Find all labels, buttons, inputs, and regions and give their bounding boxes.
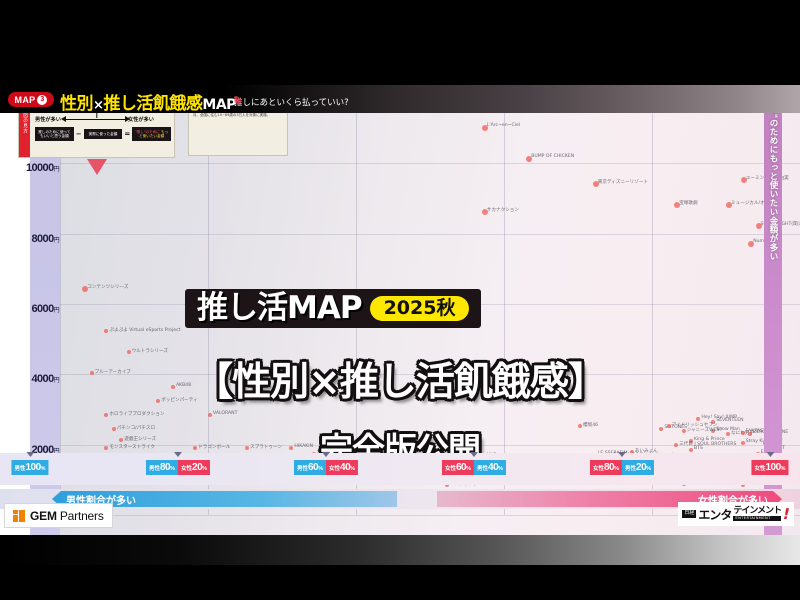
tick-pills: 女性60%男性40% <box>442 460 506 475</box>
pill-gender-label: 男性 <box>477 466 488 472</box>
header-title-a: 性別 <box>60 94 93 114</box>
tick-pills: 男性60%女性40% <box>294 460 358 475</box>
map-badge-number: 3 <box>37 95 47 105</box>
pill-female: 女性80% <box>590 460 622 475</box>
data-point[interactable] <box>667 424 671 428</box>
y-tick-value: 10000円 <box>26 162 59 174</box>
x-axis-tick: 男性80%女性20% <box>146 453 210 475</box>
pill-percent-sign: % <box>170 466 175 472</box>
data-point-label: Hey! Say! JUMP <box>701 415 737 420</box>
pill-percent: 60 <box>456 462 466 473</box>
pill-gender-label: 女性 <box>593 466 604 472</box>
data-point-label: ウルトラシリーズ <box>132 348 168 354</box>
infographic-content: 金額 12000円10000円8000円6000円4000円2000円0円 L'… <box>0 85 800 535</box>
legend-horizontal-line <box>65 119 127 120</box>
pill-male: 男性80% <box>146 460 178 475</box>
title-season-pill: 2025秋 <box>370 296 470 321</box>
pill-gender-label: 男性 <box>14 466 25 472</box>
nikkei-mark: 日経 <box>682 510 696 517</box>
grid-line-horizontal <box>60 163 800 164</box>
data-point-label: ジャニーズWEST <box>687 427 723 433</box>
data-point-label: HIKAKIN <box>294 444 313 449</box>
pill-percent-sign: % <box>350 466 355 472</box>
header-title-map: MAP <box>202 97 236 113</box>
data-point[interactable] <box>208 413 212 417</box>
data-point-label: ぷよぷよ Virtual eSports Project <box>109 327 180 333</box>
data-point-label: 三代目 J SOUL BROTHERS <box>679 441 736 447</box>
data-point-label: 東京ディズニーリゾート <box>598 179 648 185</box>
nikkei-teinment: テインメント <box>733 507 781 516</box>
data-point[interactable] <box>156 399 160 403</box>
formula-operator-equals: = <box>124 130 130 138</box>
title-overlay-row1: 推し活MAP 2025秋 <box>185 289 481 328</box>
pill-percent: 20 <box>636 462 646 473</box>
pill-gender-label: 女性 <box>181 466 192 472</box>
data-point-label: モンスターストライク <box>109 444 155 450</box>
pill-percent: 80 <box>160 462 170 473</box>
tick-pills: 男性80%女性20% <box>146 460 210 475</box>
pill-percent-sign: % <box>614 466 619 472</box>
pill-female: 女性100% <box>751 460 788 475</box>
y-tick-value: 8000円 <box>32 233 59 245</box>
title-main: 推し活MAP <box>197 293 362 324</box>
data-point[interactable] <box>104 329 108 333</box>
header-subtitle-text: 推しにあといくら払っていい? <box>234 98 349 108</box>
y-axis-tick: 10000円 <box>26 156 59 175</box>
data-point[interactable] <box>245 446 249 450</box>
tick-caret-icon <box>174 452 182 457</box>
footer-band <box>0 535 800 565</box>
x-axis-tick: 男性100% <box>11 453 48 475</box>
header-title-b: 推し活飢餓感 <box>103 94 202 114</box>
y-axis-tick: 6000円 <box>32 297 59 316</box>
data-point[interactable] <box>578 424 582 428</box>
data-point[interactable] <box>696 417 700 421</box>
legend-right-arrow-icon <box>125 116 130 122</box>
nikkei-slash: ! <box>781 505 792 523</box>
data-point-label: コンテンツシリーズ <box>87 284 128 290</box>
y-tick-unit: 円 <box>54 167 59 173</box>
data-point-label: VALORANT <box>213 411 237 416</box>
legend-pointer-icon <box>87 159 107 175</box>
data-point-label: パチンコ/パチスロ <box>117 425 155 431</box>
pill-male: 男性40% <box>474 460 506 475</box>
pill-percent: 40 <box>340 462 350 473</box>
tick-caret-icon <box>322 452 330 457</box>
y-axis-tick: 4000円 <box>32 367 59 386</box>
x-axis-tick: 女性60%男性40% <box>442 453 506 475</box>
gem-partners-logo: GEM Partners <box>4 503 113 528</box>
y-tick-unit: 円 <box>54 238 59 244</box>
data-point[interactable] <box>682 429 686 433</box>
pill-female: 女性40% <box>326 460 358 475</box>
data-point[interactable] <box>726 432 730 436</box>
y-tick-unit: 円 <box>54 378 59 384</box>
data-point[interactable] <box>171 385 175 389</box>
pill-percent: 80 <box>604 462 614 473</box>
pill-percent: 100 <box>765 462 780 473</box>
data-point-label: ホロライブプロダクション <box>109 411 164 417</box>
data-point-label: 櫻坂46 <box>583 422 598 428</box>
pill-gender-label: 男性 <box>149 466 160 472</box>
data-point-label: ブルーアーカイブ <box>95 369 131 375</box>
formula-term-2: 実際に使った金額 <box>84 129 123 138</box>
nikkei-enta: エンタ <box>698 506 731 523</box>
pill-male: 男性60% <box>294 460 326 475</box>
legend-formula: 推しのために使ってもいいと思う金額 − 実際に使った金額 = "推し"のために … <box>35 127 171 141</box>
gem-name-bold: GEM <box>30 509 57 523</box>
data-point-label: ドラゴンボール <box>198 444 230 450</box>
formula-result-line1: "推し"のために <box>135 130 160 134</box>
header-title: 性別×推し活飢餓感MAP <box>60 89 236 114</box>
grid-line-horizontal <box>60 234 800 235</box>
data-point-label: 宝塚歌劇 <box>679 200 697 206</box>
pill-gender-label: 男性 <box>297 466 308 472</box>
map-badge-label: MAP <box>15 95 36 105</box>
nikkei-teinment-group: テインメント ENTERTAINMENT <box>733 507 781 522</box>
pill-percent-sign: % <box>318 466 323 472</box>
data-point[interactable] <box>741 441 745 445</box>
data-point[interactable] <box>104 413 108 417</box>
legend-right-label: 女性が多い <box>128 116 154 123</box>
data-point-label: L'Arc~en~Ciel <box>487 123 520 128</box>
pill-percent: 20 <box>192 462 202 473</box>
gem-squares-icon <box>13 510 25 522</box>
data-point[interactable] <box>741 431 745 435</box>
data-point-label: ポッピンパーティ <box>161 397 197 403</box>
legend-left-arrow-icon <box>61 116 66 122</box>
data-point[interactable] <box>689 448 693 452</box>
data-point[interactable] <box>119 438 123 442</box>
tick-caret-icon <box>26 452 34 457</box>
header-title-x: × <box>93 98 103 113</box>
data-point[interactable] <box>289 446 293 450</box>
pill-female: 女性20% <box>178 460 210 475</box>
pill-male: 男性20% <box>622 460 654 475</box>
data-point-label: サカナクション <box>487 207 519 213</box>
title-overlay-row2: 【性別×推し活飢餓感】 <box>194 363 606 402</box>
data-point[interactable] <box>674 443 678 447</box>
y-tick-unit: 円 <box>54 308 59 314</box>
pill-gender-label: 女性 <box>445 466 456 472</box>
data-point-label: スプラトゥーン <box>250 444 282 450</box>
pill-percent-sign: % <box>646 466 651 472</box>
pill-percent-sign: % <box>466 466 471 472</box>
data-point-label: BTS <box>694 446 703 451</box>
pill-gender-label: 女性 <box>329 466 340 472</box>
pill-female: 女性60% <box>442 460 474 475</box>
gem-name-rest: Partners <box>60 509 104 523</box>
legend-left-label: 男性が多い <box>35 116 61 123</box>
tick-pills: 女性100% <box>751 460 788 475</box>
y-axis-tick: 8000円 <box>32 227 59 246</box>
data-point[interactable] <box>112 427 116 431</box>
tick-caret-icon <box>618 452 626 457</box>
tick-pills: 男性100% <box>11 460 48 475</box>
nikkei-entertainment-logo: 日経 エンタ テインメント ENTERTAINMENT ! <box>678 502 794 526</box>
x-axis-tick: 女性100% <box>751 453 788 475</box>
data-point[interactable] <box>127 350 131 354</box>
pill-percent-sign: % <box>781 466 786 472</box>
data-point[interactable] <box>104 446 108 450</box>
pill-percent: 40 <box>488 462 498 473</box>
header-subtitle: ●推しにあといくら払っていい? <box>234 96 349 108</box>
formula-operator-minus: − <box>76 130 82 138</box>
data-point-label: BUMP OF CHICKEN <box>531 154 574 159</box>
formula-result: "推し"のために もっと使いたい金額 <box>132 127 171 141</box>
pill-percent-sign: % <box>498 466 503 472</box>
data-point-label: AKB48 <box>176 383 191 388</box>
x-axis-tick: 男性60%女性40% <box>294 453 358 475</box>
pill-percent: 100 <box>25 462 40 473</box>
tick-pills: 女性80%男性20% <box>590 460 654 475</box>
gem-partners-name: GEM Partners <box>30 509 104 523</box>
tick-caret-icon <box>766 452 774 457</box>
y-tick-value: 6000円 <box>32 303 59 315</box>
video-frame: 金額 12000円10000円8000円6000円4000円2000円0円 L'… <box>0 0 800 600</box>
nikkei-sub: ENTERTAINMENT <box>733 516 781 522</box>
map-badge: MAP 3 <box>8 92 54 107</box>
pill-percent-sign: % <box>41 466 46 472</box>
grid-line-vertical <box>504 85 505 515</box>
y-tick-value: 4000円 <box>32 373 59 385</box>
data-point[interactable] <box>90 371 94 375</box>
x-axis: 男性100%男性80%女性20%男性60%女性40%女性60%男性40%女性80… <box>0 453 800 485</box>
formula-term-1: 推しのために使ってもいいと思う金額 <box>35 127 74 141</box>
x-axis-tick: 女性80%男性20% <box>590 453 654 475</box>
pill-male: 男性100% <box>11 460 48 475</box>
tick-caret-icon <box>470 452 478 457</box>
bullet-icon: ● <box>234 96 238 100</box>
pill-gender-label: 女性 <box>754 466 765 472</box>
right-axis-label: "推し"のためにもっと使いたい金額が多い <box>767 91 779 261</box>
data-point[interactable] <box>193 446 197 450</box>
pill-gender-label: 男性 <box>625 466 636 472</box>
pill-percent: 60 <box>308 462 318 473</box>
pill-percent-sign: % <box>202 466 207 472</box>
data-point[interactable] <box>659 427 663 431</box>
data-point-label: 遊戯王シリーズ <box>124 436 156 442</box>
